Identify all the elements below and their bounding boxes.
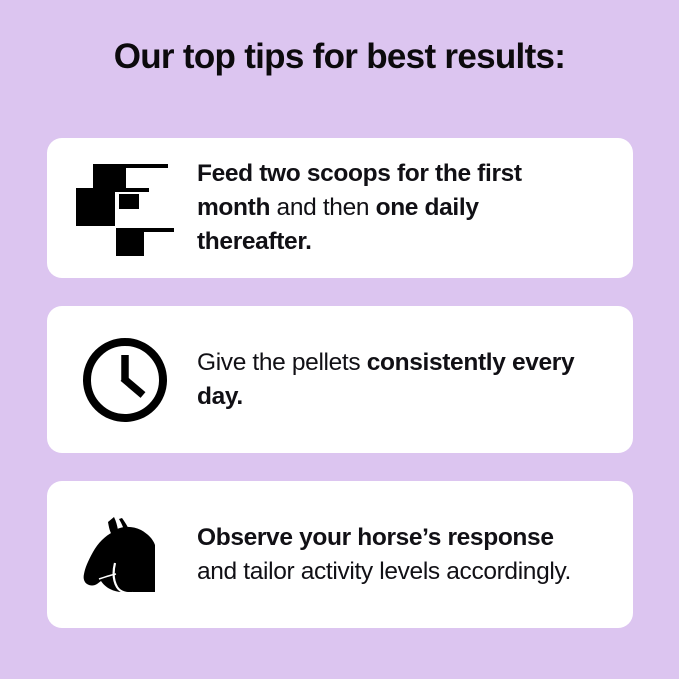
tips-panel: Our top tips for best results: xyxy=(0,0,679,679)
clock-icon xyxy=(47,306,197,453)
tip-text-observation: Observe your horse’s response and tailor… xyxy=(197,521,633,589)
tips-card-list: Feed two scoops for the first month and … xyxy=(47,138,633,628)
tip-card-observation: Observe your horse’s response and tailor… xyxy=(47,481,633,628)
horse-head-icon xyxy=(47,481,197,628)
tip-text-consistency: Give the pellets consistently every day. xyxy=(197,346,633,414)
page-title: Our top tips for best results: xyxy=(0,36,679,78)
scoops-icon xyxy=(47,138,197,278)
tip-card-consistency: Give the pellets consistently every day. xyxy=(47,306,633,453)
tip-card-feeding: Feed two scoops for the first month and … xyxy=(47,138,633,278)
tip-text-feeding: Feed two scoops for the first month and … xyxy=(197,157,633,259)
